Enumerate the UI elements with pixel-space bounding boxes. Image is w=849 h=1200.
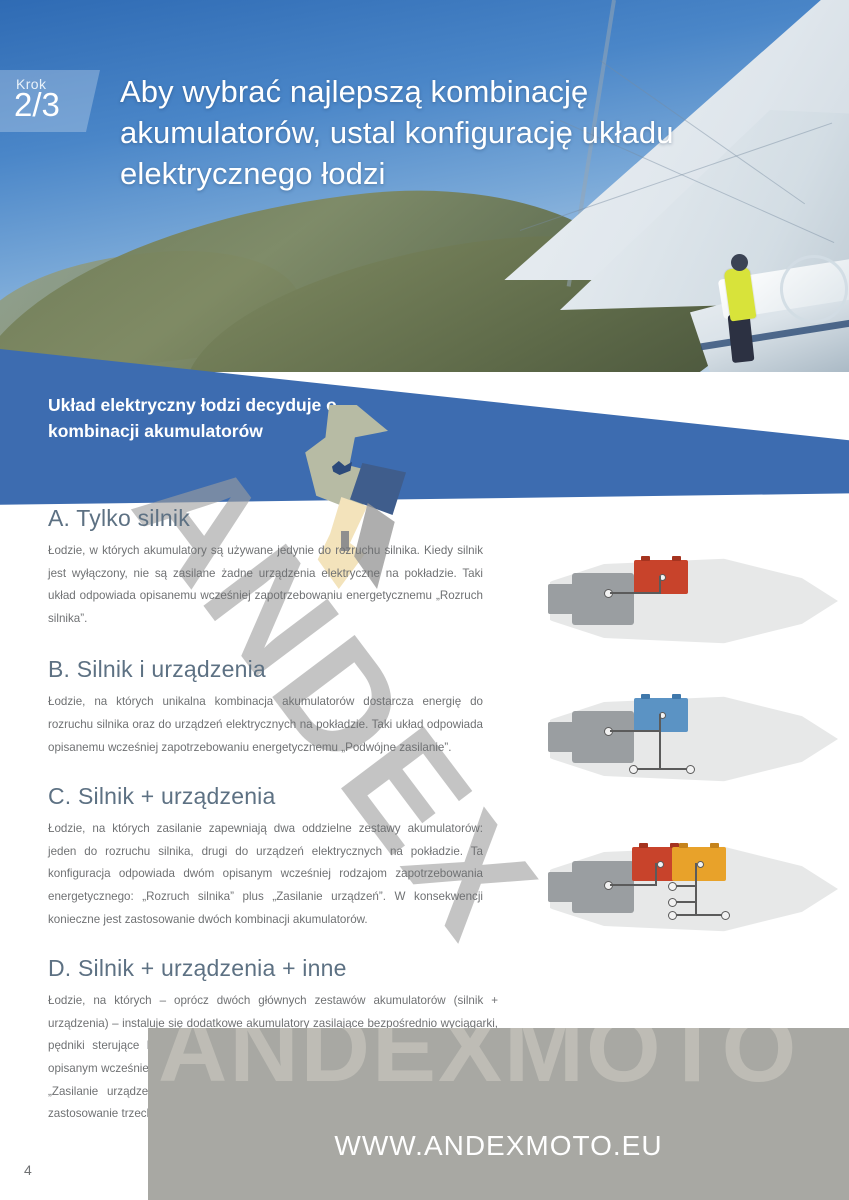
device-node	[629, 765, 638, 774]
section-d-heading: D. Silnik + urządzenia + inne	[48, 955, 849, 982]
battery-terminal	[697, 861, 704, 868]
section-c-body: Łodzie, na których zasilanie zapewniają …	[48, 818, 483, 931]
step-badge: Krok 2/3	[0, 70, 100, 132]
device-node	[721, 911, 730, 920]
page-title: Aby wybrać najlepszą kombinację akumulat…	[120, 72, 720, 195]
boat-diagram-a	[528, 545, 838, 665]
section-a-heading: A. Tylko silnik	[48, 505, 849, 532]
wire-vertical	[659, 576, 661, 594]
boat-diagram-c	[528, 833, 838, 953]
engine-block	[572, 573, 634, 625]
wire-vertical	[655, 863, 657, 886]
battery-devices	[672, 847, 726, 881]
battery-dual	[634, 698, 688, 732]
device-node	[668, 882, 677, 891]
footer-watermark-text: ANDEXMOTO	[158, 1028, 798, 1104]
banner-text: Układ elektryczny łodzi decyduje o kombi…	[48, 392, 378, 445]
footer-url: WWW.ANDEXMOTO.EU	[148, 1130, 849, 1162]
page-number: 4	[24, 1162, 32, 1178]
footer-brand-band: ANDEXMOTO WWW.ANDEXMOTO.EU	[148, 1028, 849, 1200]
engine-block	[572, 711, 634, 763]
wire-engine-battery	[610, 730, 661, 732]
wire-engine-battery	[610, 592, 661, 594]
wire-bus	[695, 863, 697, 915]
engine-shaft	[548, 584, 574, 614]
device-node	[668, 911, 677, 920]
wire-engine-battery	[610, 884, 657, 886]
section-a-body: Łodzie, w których akumulatory są używane…	[48, 540, 483, 630]
device-node	[668, 898, 677, 907]
battery-engine	[634, 560, 688, 594]
boat-diagram-b	[528, 683, 838, 803]
section-b-body: Łodzie, na których unikalna kombinacja a…	[48, 691, 483, 759]
engine-block	[572, 861, 634, 913]
engine-shaft	[548, 722, 574, 752]
sailor-head	[731, 254, 748, 271]
page-root: Krok 2/3 Aby wybrać najlepszą kombinację…	[0, 0, 849, 1200]
step-badge-value: 2/3	[14, 88, 60, 121]
battery-terminal	[657, 861, 664, 868]
engine-shaft	[548, 872, 574, 902]
device-node	[686, 765, 695, 774]
wire-bus	[659, 714, 661, 770]
